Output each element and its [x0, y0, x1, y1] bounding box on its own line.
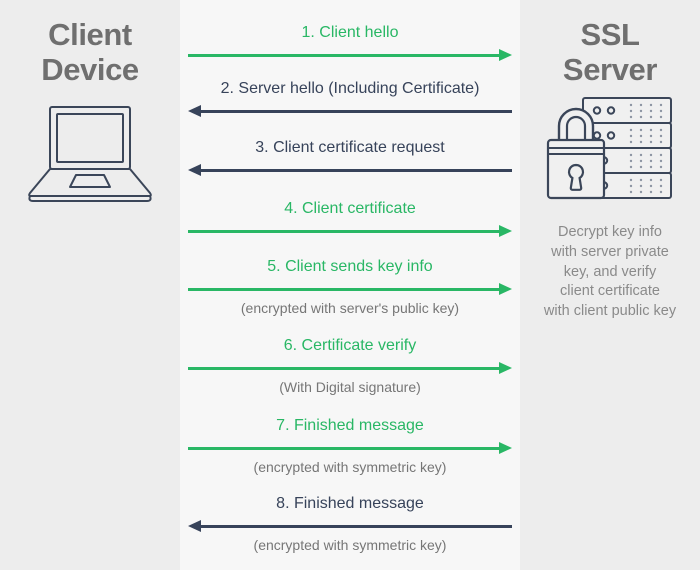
message-label: 2. Server hello (Including Certificate) [188, 80, 512, 98]
ssl-handshake-diagram: Client Device 1. Client hello2. Server h… [0, 0, 700, 570]
arrow-line [201, 169, 512, 172]
arrow-head-icon [499, 362, 512, 374]
arrow-line [188, 288, 499, 291]
arrow-head-icon [188, 105, 201, 117]
arrow-line [188, 54, 499, 57]
message-label: 1. Client hello [188, 24, 512, 42]
server-lock-icon-wrap [545, 95, 675, 205]
arrow-line [201, 525, 512, 528]
laptop-icon-wrap [24, 101, 156, 206]
message-8: 8. Finished message(encrypted with symme… [188, 495, 512, 553]
server-title-line-2: Server [563, 53, 657, 88]
arrow-left [188, 519, 512, 533]
message-label: 6. Certificate verify [188, 337, 512, 355]
message-1: 1. Client hello [188, 24, 512, 62]
arrow-line [188, 230, 499, 233]
message-3: 3. Client certificate request [188, 139, 512, 177]
message-7: 7. Finished message(encrypted with symme… [188, 417, 512, 475]
laptop-icon [24, 101, 156, 206]
message-label: 3. Client certificate request [188, 139, 512, 157]
message-2: 2. Server hello (Including Certificate) [188, 80, 512, 118]
message-label: 7. Finished message [188, 417, 512, 435]
client-title-line-1: Client [41, 18, 139, 53]
arrow-head-icon [499, 225, 512, 237]
arrow-line [188, 447, 499, 450]
server-lock-icon [545, 95, 675, 205]
client-party-title: Client Device [41, 18, 139, 87]
server-rack-unit-1 [583, 98, 671, 123]
arrow-head-icon [499, 442, 512, 454]
server-operation-note: Decrypt key info with server private key… [538, 223, 682, 321]
arrow-line [201, 110, 512, 113]
arrow-head-icon [499, 49, 512, 61]
client-party-panel: Client Device [0, 0, 180, 570]
server-party-title: SSL Server [563, 18, 657, 87]
arrow-right [188, 441, 512, 455]
message-caption: (encrypted with symmetric key) [188, 538, 512, 553]
message-label: 5. Client sends key info [188, 258, 512, 276]
arrow-head-icon [188, 164, 201, 176]
message-caption: (encrypted with server's public key) [188, 301, 512, 316]
arrow-right [188, 282, 512, 296]
client-title-line-2: Device [41, 53, 139, 88]
arrow-right [188, 48, 512, 62]
arrow-line [188, 367, 499, 370]
message-caption: (With Digital signature) [188, 380, 512, 395]
server-title-line-1: SSL [563, 18, 657, 53]
message-4: 4. Client certificate [188, 200, 512, 238]
arrow-head-icon [499, 283, 512, 295]
message-5: 5. Client sends key info(encrypted with … [188, 258, 512, 316]
message-6: 6. Certificate verify(With Digital signa… [188, 337, 512, 395]
arrow-right [188, 224, 512, 238]
server-party-panel: SSL Server [520, 0, 700, 570]
message-list: 1. Client hello2. Server hello (Includin… [180, 0, 520, 570]
arrow-left [188, 104, 512, 118]
message-label: 4. Client certificate [188, 200, 512, 218]
arrow-right [188, 361, 512, 375]
message-label: 8. Finished message [188, 495, 512, 513]
arrow-left [188, 163, 512, 177]
arrow-head-icon [188, 520, 201, 532]
message-flow-panel: 1. Client hello2. Server hello (Includin… [180, 0, 520, 570]
message-caption: (encrypted with symmetric key) [188, 460, 512, 475]
